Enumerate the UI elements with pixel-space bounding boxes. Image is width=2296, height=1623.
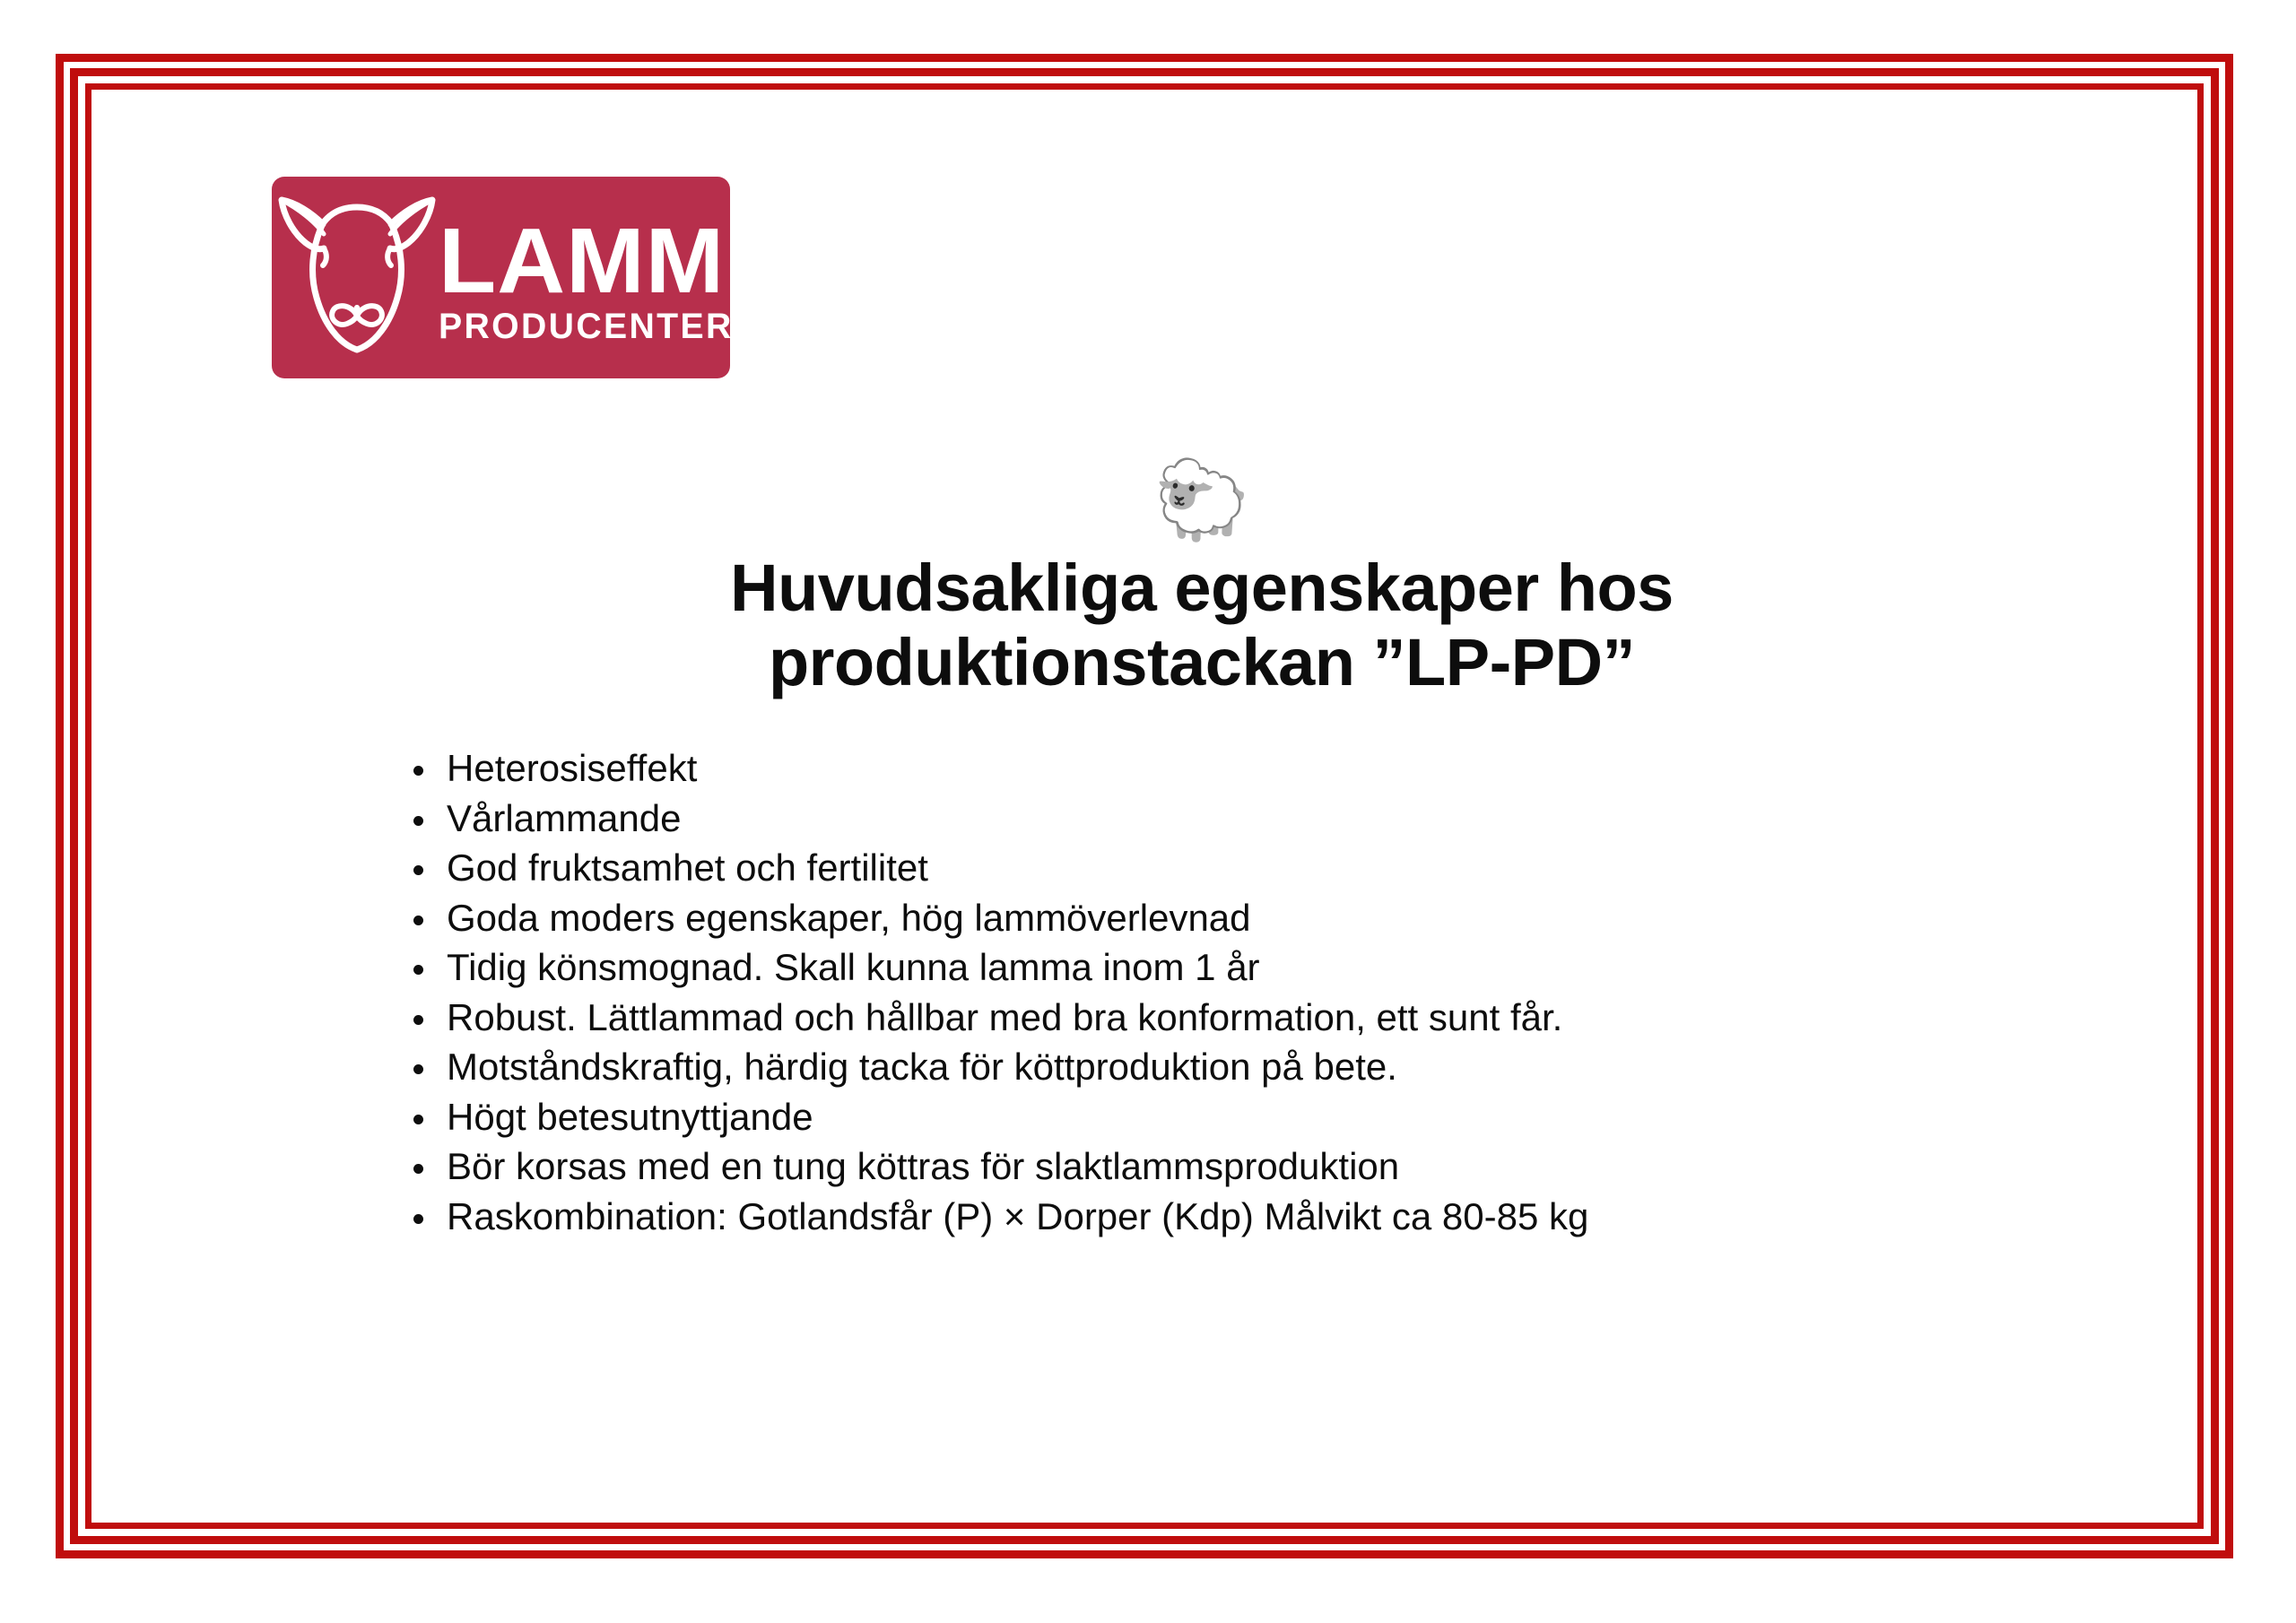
characteristics-list: Heterosiseffekt Vårlammande God fruktsam… <box>402 750 2106 1247</box>
logo-wordmark: LAMM PRODUCENTERNA <box>439 210 730 345</box>
heading-block: 🐑 Huvudsakliga egenskaper hos produktion… <box>574 462 1830 700</box>
list-item: Goda moders egenskaper, hög lammöverlevn… <box>402 899 2106 937</box>
list-item: Tidig könsmognad. Skall kunna lamma inom… <box>402 949 2106 986</box>
list-item: Bör korsas med en tung köttras för slakt… <box>402 1148 2106 1185</box>
list-item: Motståndskraftig, härdig tacka för köttp… <box>402 1048 2106 1086</box>
list-item: God fruktsamhet och fertilitet <box>402 849 2106 887</box>
list-item: Högt betesutnyttjande <box>402 1098 2106 1136</box>
logo-primary-text: LAMM <box>439 221 730 302</box>
page-title: Huvudsakliga egenskaper hos produktionst… <box>574 551 1830 700</box>
list-item: Vårlammande <box>402 800 2106 838</box>
title-line-1: Huvudsakliga egenskaper hos <box>730 551 1674 625</box>
slide-canvas: LAMM PRODUCENTERNA 🐑 Huvudsakliga egensk… <box>0 0 2296 1623</box>
list-item: Raskombination: Gotlandsfår (P) × Dorper… <box>402 1198 2106 1236</box>
title-line-2: produktionstackan ”LP-PD” <box>769 625 1635 699</box>
list-item: Heterosiseffekt <box>402 750 2106 787</box>
list-item: Robust. Lättlammad och hållbar med bra k… <box>402 999 2106 1037</box>
sheep-head-icon <box>272 177 442 378</box>
lammproducenterna-logo: LAMM PRODUCENTERNA <box>272 177 730 378</box>
sheep-emoji: 🐑 <box>574 462 1830 551</box>
logo-secondary-text: PRODUCENTERNA <box>439 308 730 345</box>
